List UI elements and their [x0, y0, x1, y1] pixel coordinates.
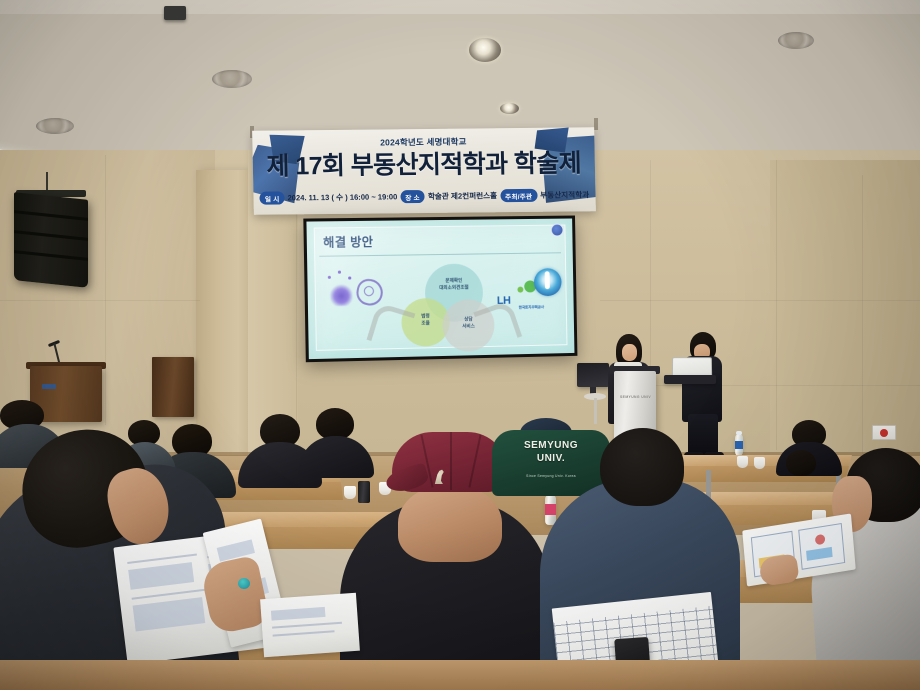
lh-logo-text: LH: [497, 295, 511, 307]
speaker-wire: [46, 172, 48, 192]
banner-title: 제 17회 부동산지적학과 학술제: [252, 143, 595, 183]
banner-value-date: 2024. 11. 13 ( 수 ) 16:00 ~ 19:00: [287, 191, 397, 203]
projector-mount: [164, 6, 186, 20]
slide-sparkle-icon: [328, 276, 331, 279]
audience-cap-man-neck: [398, 484, 502, 562]
banner-value-host: 부동산지적학과: [540, 189, 589, 201]
semyung-univ-jacket: SEMYUNG UNIV. Since Semyung Univ. Korea: [492, 430, 610, 496]
wall-seam: [105, 155, 106, 425]
ceiling-vent-icon: [36, 118, 74, 134]
jacket-text: SEMYUNG UNIV.: [492, 440, 610, 465]
slide-corner-badge-icon: [551, 224, 564, 237]
wall-seam: [600, 300, 920, 301]
form-header-text: [558, 607, 592, 617]
ceiling-spotlight-icon: [469, 38, 501, 62]
wall-pillar: [196, 170, 256, 470]
audience-head: [786, 450, 816, 476]
wall-seam: [776, 160, 777, 450]
presenter-female-face: [622, 344, 637, 361]
banner-label-host: 주최/주관: [500, 189, 537, 202]
ceiling-vent-icon: [778, 32, 814, 49]
beverage-can: [358, 481, 370, 503]
stool: [584, 393, 606, 423]
conference-banner: 2024학년도 세명대학교 제 17회 부동산지적학과 학술제 일 시 2024…: [252, 127, 596, 215]
ceiling-vent-icon: [212, 70, 252, 88]
line-array-speaker: [14, 192, 88, 288]
banner-label-date: 일 시: [260, 191, 285, 204]
teal-ring: [238, 578, 250, 589]
audience-denim-man-head: [600, 428, 684, 506]
paper-cup: [344, 486, 356, 499]
slide-person-icon: [330, 279, 353, 306]
exit-dot-icon: [880, 429, 888, 437]
lh-dot-icon: [517, 287, 523, 293]
banner-value-place: 학술관 제2컨퍼런스홀: [428, 190, 497, 202]
ceiling-spotlight-icon: [500, 103, 519, 114]
jacket-text-line2: UNIV.: [537, 453, 565, 464]
water-bottle: [545, 495, 556, 525]
lecture-hall-photo: 2024학년도 세명대학교 제 17회 부동산지적학과 학술제 일 시 2024…: [0, 0, 920, 690]
wall-seam: [862, 175, 863, 455]
wall-seam: [0, 300, 200, 301]
kcsc-logo-icon: [534, 268, 562, 296]
slide-sparkle-icon: [348, 276, 351, 279]
lectern-brand-label: SEMYUNG UNIV: [620, 395, 651, 399]
water-bottle: [735, 434, 743, 456]
wooden-cabinet: [152, 357, 194, 417]
lh-logo-subtext: 한국토지주택공사: [519, 305, 544, 310]
banner-label-place: 장 소: [400, 190, 425, 203]
desk-ledge-foreground: [0, 660, 920, 690]
paper-cup: [754, 457, 765, 469]
laptop-stand: [664, 375, 716, 384]
projection-screen: 해결 방안 문제확인대외소외견조절 법령조율 상담서비스 LH 한국토지주택공사: [306, 218, 574, 359]
slide-circle-top-label: 문제확인대외소외견조절: [424, 277, 484, 292]
handout-paper: [260, 593, 360, 658]
stage-monitor: [577, 363, 609, 387]
jacket-subtext: Since Semyung Univ. Korea: [492, 474, 610, 478]
projection-screen-frame: 해결 방안 문제확인대외소외견조절 법령조율 상담서비스 LH 한국토지주택공사: [303, 216, 577, 363]
slide-title: 해결 방안: [323, 233, 374, 251]
emergency-exit-sign: [872, 425, 896, 440]
paper-cup: [737, 456, 748, 468]
presenter-male-legs: [688, 414, 718, 456]
slide-sparkle-icon: [338, 271, 341, 274]
jacket-text-line1: SEMYUNG: [524, 440, 578, 451]
banner-pole-right: [594, 118, 598, 130]
slide-logo-group: LH 한국토지주택공사: [496, 266, 562, 313]
banner-info-row: 일 시 2024. 11. 13 ( 수 ) 16:00 ~ 19:00 장 소…: [253, 188, 595, 205]
